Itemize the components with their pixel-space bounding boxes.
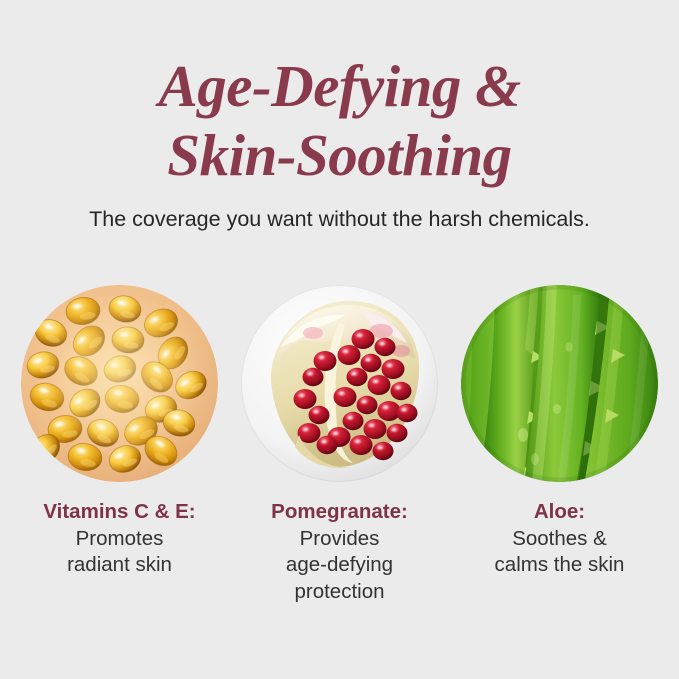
ingredient-label: Aloe: (452, 499, 667, 526)
ingredient-benefits-infographic: Age-Defying & Skin-Soothing The coverage… (0, 0, 679, 679)
pomegranate-fruit-photo (241, 285, 438, 482)
ingredient-caption-vitamins: Vitamins C & E: Promotes radiant skin (12, 499, 227, 579)
ingredient-description: Promotes radiant skin (12, 526, 227, 579)
page-title: Age-Defying & Skin-Soothing (0, 52, 679, 190)
ingredient-caption-pomegranate: Pomegranate: Provides age-defying protec… (232, 499, 447, 605)
description-line-2: age-defying (232, 552, 447, 579)
ingredient-column-pomegranate: Pomegranate: Provides age-defying protec… (241, 285, 438, 605)
ingredient-label: Vitamins C & E: (12, 499, 227, 526)
description-line-1: Promotes (12, 526, 227, 553)
ingredient-column-aloe: Aloe: Soothes & calms the skin (461, 285, 658, 605)
ingredient-columns: Vitamins C & E: Promotes radiant skin (0, 285, 679, 605)
ingredient-column-vitamins: Vitamins C & E: Promotes radiant skin (21, 285, 218, 605)
vitamin-softgel-capsules-photo (21, 285, 218, 482)
description-line-1: Soothes & (452, 526, 667, 553)
description-line-2: radiant skin (12, 552, 227, 579)
description-line-3: protection (232, 579, 447, 606)
description-line-1: Provides (232, 526, 447, 553)
ingredient-label: Pomegranate: (232, 499, 447, 526)
headline-line-1: Age-Defying & (0, 52, 679, 121)
ingredient-description: Provides age-defying protection (232, 526, 447, 606)
ingredient-caption-aloe: Aloe: Soothes & calms the skin (452, 499, 667, 579)
description-line-2: calms the skin (452, 552, 667, 579)
headline-line-2: Skin-Soothing (0, 121, 679, 190)
subtitle: The coverage you want without the harsh … (0, 205, 679, 233)
aloe-vera-leaves-photo (461, 285, 658, 482)
ingredient-description: Soothes & calms the skin (452, 526, 667, 579)
